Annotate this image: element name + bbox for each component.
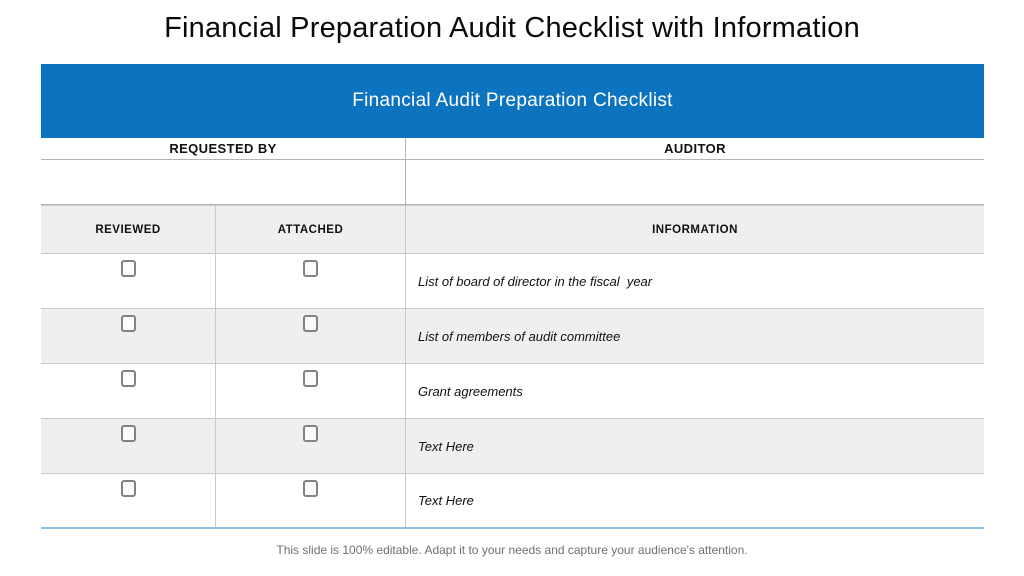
column-header-reviewed-label: REVIEWED — [95, 224, 160, 236]
table-banner-title: Financial Audit Preparation Checklist — [352, 90, 673, 112]
information-text: Text Here — [418, 493, 474, 508]
attached-checkbox[interactable] — [303, 315, 318, 332]
cell-information[interactable]: Grant agreements — [405, 364, 984, 418]
cell-reviewed — [41, 419, 215, 473]
table-row: Grant agreements — [41, 364, 984, 419]
requested-by-value-cell[interactable] — [41, 160, 405, 204]
table-row: Text Here — [41, 419, 984, 474]
auditor-label: AUDITOR — [664, 141, 726, 156]
column-header-reviewed: REVIEWED — [41, 206, 215, 253]
cell-information[interactable]: List of board of director in the fiscal … — [405, 254, 984, 308]
column-header-information-label: INFORMATION — [652, 224, 738, 236]
requested-by-label: REQUESTED BY — [169, 141, 276, 156]
attached-checkbox[interactable] — [303, 425, 318, 442]
column-header-attached: ATTACHED — [215, 206, 405, 253]
page-title: Financial Preparation Audit Checklist wi… — [0, 12, 1024, 45]
cell-reviewed — [41, 309, 215, 363]
cell-reviewed — [41, 364, 215, 418]
requested-by-header-cell: REQUESTED BY — [41, 138, 405, 159]
information-text: Grant agreements — [418, 384, 523, 399]
reviewed-checkbox[interactable] — [121, 315, 136, 332]
cell-attached — [215, 474, 405, 527]
checklist-rows: List of board of director in the fiscal … — [41, 254, 984, 529]
cell-attached — [215, 309, 405, 363]
information-text: Text Here — [418, 439, 474, 454]
checklist-table: Financial Audit Preparation Checklist RE… — [41, 64, 984, 529]
table-banner: Financial Audit Preparation Checklist — [41, 64, 984, 138]
table-row: List of members of audit committee — [41, 309, 984, 364]
column-header-row: REVIEWED ATTACHED INFORMATION — [41, 205, 984, 254]
reviewed-checkbox[interactable] — [121, 425, 136, 442]
column-header-attached-label: ATTACHED — [278, 224, 344, 236]
cell-reviewed — [41, 474, 215, 527]
cell-information[interactable]: Text Here — [405, 474, 984, 527]
information-text: List of members of audit committee — [418, 329, 620, 344]
meta-value-row — [41, 160, 984, 205]
reviewed-checkbox[interactable] — [121, 370, 136, 387]
slide-canvas: Financial Preparation Audit Checklist wi… — [0, 0, 1024, 576]
information-text: List of board of director in the fiscal … — [418, 274, 652, 289]
cell-information[interactable]: Text Here — [405, 419, 984, 473]
cell-reviewed — [41, 254, 215, 308]
attached-checkbox[interactable] — [303, 370, 318, 387]
footer-note: This slide is 100% editable. Adapt it to… — [0, 543, 1024, 557]
auditor-value-cell[interactable] — [405, 160, 984, 204]
cell-attached — [215, 419, 405, 473]
cell-attached — [215, 254, 405, 308]
cell-information[interactable]: List of members of audit committee — [405, 309, 984, 363]
reviewed-checkbox[interactable] — [121, 480, 136, 497]
reviewed-checkbox[interactable] — [121, 260, 136, 277]
table-row: List of board of director in the fiscal … — [41, 254, 984, 309]
attached-checkbox[interactable] — [303, 260, 318, 277]
cell-attached — [215, 364, 405, 418]
auditor-header-cell: AUDITOR — [405, 138, 984, 159]
table-row: Text Here — [41, 474, 984, 529]
attached-checkbox[interactable] — [303, 480, 318, 497]
column-header-information: INFORMATION — [405, 206, 984, 253]
checklist-grid: REVIEWED ATTACHED INFORMATION List of bo… — [41, 205, 984, 529]
meta-header-row: REQUESTED BY AUDITOR — [41, 138, 984, 160]
